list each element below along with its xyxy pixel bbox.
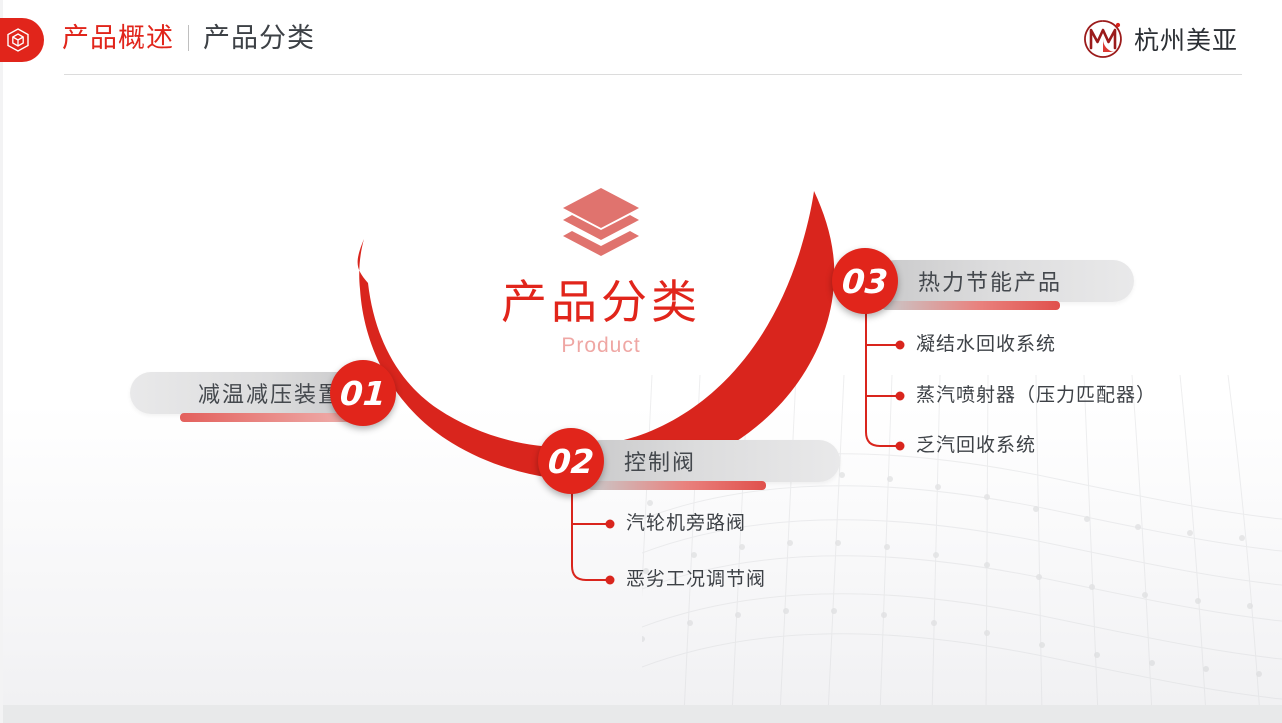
node-03-subitem-3[interactable]: 乏汽回收系统 xyxy=(916,435,1036,457)
brand-name: 杭州美亚 xyxy=(1134,21,1238,57)
node-03-subtree: 凝结水回收系统 蒸汽喷射器（压力匹配器） 乏汽回收系统 xyxy=(864,308,1164,468)
hero-title: 产品分类 xyxy=(456,276,746,328)
layers-stack-icon xyxy=(561,186,641,264)
node-03-pill[interactable]: 热力节能产品 xyxy=(874,260,1134,302)
cube-hexagon-icon xyxy=(0,18,44,62)
node-03-subitem-1[interactable]: 凝结水回收系统 xyxy=(916,334,1056,356)
node-01-underline xyxy=(180,413,358,422)
header-divider-line xyxy=(64,74,1242,75)
bullet-dot xyxy=(896,392,905,401)
node-02-badge[interactable]: 02 xyxy=(538,428,604,494)
node-01-badge[interactable]: 01 xyxy=(330,360,396,426)
node-01-number: 01 xyxy=(339,374,388,413)
brand-logo: 杭州美亚 xyxy=(1080,16,1238,62)
hero-subtitle: Product xyxy=(456,334,746,358)
node-03-subitem-2[interactable]: 蒸汽喷射器（压力匹配器） xyxy=(916,385,1156,407)
bottom-strip xyxy=(0,705,1282,723)
title-divider xyxy=(188,25,189,51)
node-01-pill[interactable]: 减温减压装置 xyxy=(130,372,362,414)
node-03-badge[interactable]: 03 xyxy=(832,248,898,314)
title-sub: 产品分类 xyxy=(203,21,315,55)
bullet-dot xyxy=(606,520,615,529)
header-bar: 产品概述 产品分类 杭州美亚 xyxy=(0,0,1282,76)
meiya-m-circle-logo xyxy=(1080,16,1126,62)
bullet-dot xyxy=(606,576,615,585)
node-02-subitem-2[interactable]: 恶劣工况调节阀 xyxy=(626,569,766,591)
node-02-number: 02 xyxy=(547,442,596,481)
node-01[interactable]: 减温减压装置 01 xyxy=(130,354,410,444)
left-edge-strip xyxy=(0,0,3,723)
node-02-pill[interactable]: 控制阀 xyxy=(580,440,840,482)
slide-canvas: 产品概述 产品分类 杭州美亚 产品分类 Product xyxy=(0,0,1282,723)
page-title: 产品概述 产品分类 xyxy=(62,21,315,55)
hero-block: 产品分类 Product xyxy=(456,186,746,358)
bullet-dot xyxy=(896,442,905,451)
node-02-subitem-1[interactable]: 汽轮机旁路阀 xyxy=(626,513,746,535)
node-01-label: 减温减压装置 xyxy=(198,377,342,409)
title-main: 产品概述 xyxy=(62,21,174,55)
node-03-number: 03 xyxy=(841,262,890,301)
bullet-dot xyxy=(896,341,905,350)
node-02-subtree: 汽轮机旁路阀 恶劣工况调节阀 xyxy=(570,488,830,598)
node-03-label: 热力节能产品 xyxy=(918,265,1062,297)
node-02-label: 控制阀 xyxy=(624,445,696,477)
